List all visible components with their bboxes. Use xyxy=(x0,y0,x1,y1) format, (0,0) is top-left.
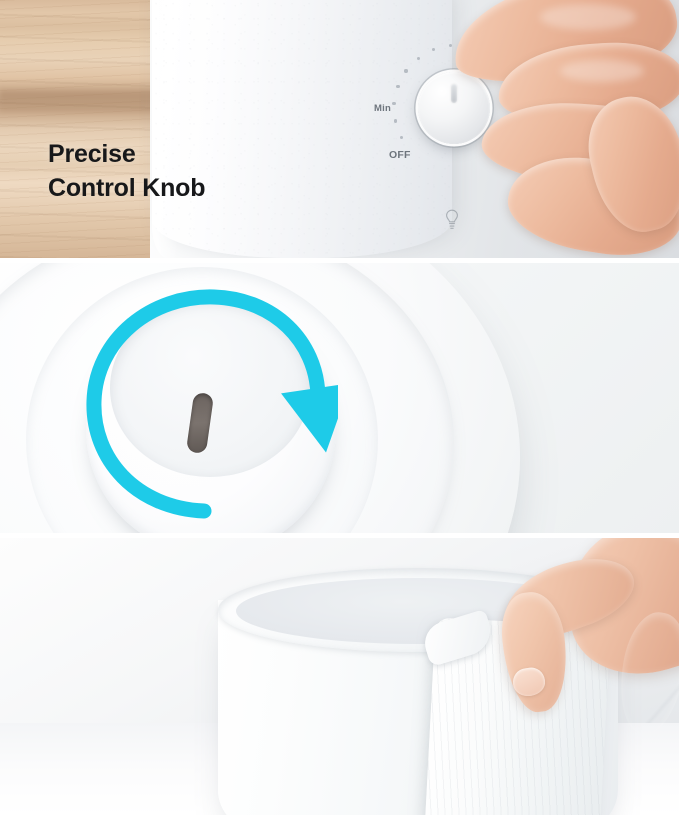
rotation-arrow-icon xyxy=(78,283,338,533)
knuckle-highlight xyxy=(560,60,644,82)
caption-precise-control-knob: Precise Control Knob xyxy=(48,105,205,238)
infographic-sheet: Min OFF Precise Control Knob xyxy=(0,0,679,815)
knob-tick-dot xyxy=(394,119,397,122)
knob-tick-dot xyxy=(396,85,399,88)
knob-tick-dot xyxy=(404,69,407,72)
knob-tick-dot xyxy=(392,102,395,105)
caption-line-2: Control Knob xyxy=(48,172,205,205)
knuckle-highlight xyxy=(540,4,636,30)
knob-tick-dot xyxy=(432,48,435,51)
panel-360-degree-nozzle: 360° Degree Nozzle xyxy=(0,263,679,533)
knob-label-min: Min xyxy=(374,103,391,114)
panel-divider xyxy=(0,258,679,263)
panel-easy-to-clean: Easy To Clean xyxy=(0,538,679,815)
knob-tick-dot xyxy=(417,57,420,60)
knob-tick-dot xyxy=(400,136,403,139)
knob-tick-dot xyxy=(449,44,452,47)
caption-line-1: Precise xyxy=(48,140,136,168)
knob-label-off: OFF xyxy=(389,149,411,161)
panel-precise-control-knob: Min OFF Precise Control Knob xyxy=(0,0,679,258)
control-knob[interactable] xyxy=(418,72,490,144)
knob-pointer-indicator xyxy=(451,84,457,103)
panel-divider xyxy=(0,533,679,538)
light-bulb-icon xyxy=(444,209,460,235)
